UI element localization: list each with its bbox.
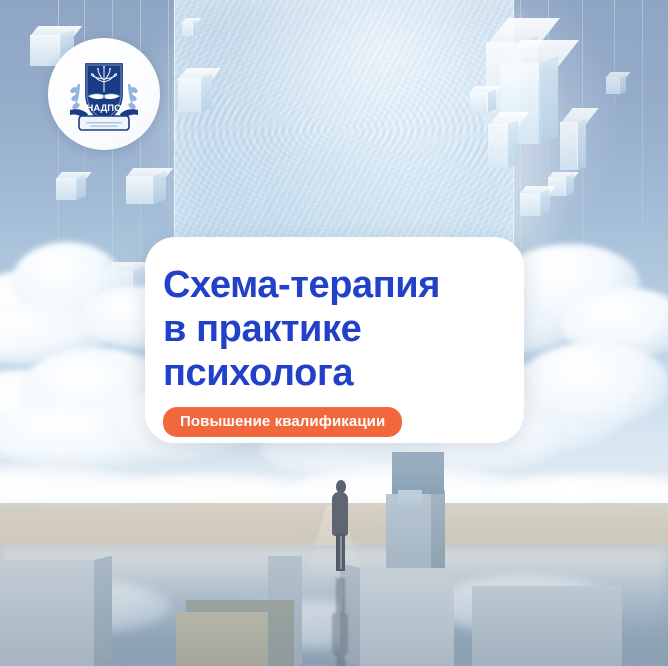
shield-label: НАДПО	[86, 103, 121, 114]
concrete-block	[176, 612, 268, 666]
cloud-panel-edge	[174, 0, 514, 254]
cube	[56, 172, 86, 200]
cube	[548, 172, 574, 196]
badge-row: Повышение квалификации	[163, 407, 524, 437]
person-silhouette	[326, 478, 354, 574]
wheat-right-icon	[127, 84, 139, 110]
figure-torso	[332, 492, 348, 536]
figure-leg-gap	[340, 536, 342, 569]
concrete-block	[358, 568, 454, 666]
person-reflection	[326, 575, 354, 666]
concrete-block	[472, 586, 622, 666]
cube	[560, 108, 586, 170]
cube	[126, 168, 166, 204]
wheat-left-icon	[69, 84, 81, 110]
cube	[520, 186, 550, 216]
course-title-line-1: Схема-терапия	[163, 263, 524, 307]
hanging-block	[398, 490, 422, 514]
nadpo-logo-icon: НАДПО	[58, 48, 150, 140]
nadpo-logo[interactable]: НАДПО	[48, 38, 160, 150]
cube	[488, 112, 518, 168]
course-title-line-2: в практике	[163, 307, 524, 351]
poster-root: НАДПО Схема-терапия в практике психолога…	[0, 0, 668, 666]
course-type-badge: Повышение квалификации	[163, 407, 402, 437]
concrete-block	[0, 560, 96, 666]
title-card: Схема-терапия в практике психолога Повыш…	[145, 237, 524, 443]
course-title-line-3: психолога	[163, 351, 524, 395]
cube	[606, 72, 626, 94]
cube	[182, 18, 198, 36]
cube	[470, 86, 496, 112]
cube	[178, 68, 212, 112]
hanging-block	[392, 452, 444, 494]
